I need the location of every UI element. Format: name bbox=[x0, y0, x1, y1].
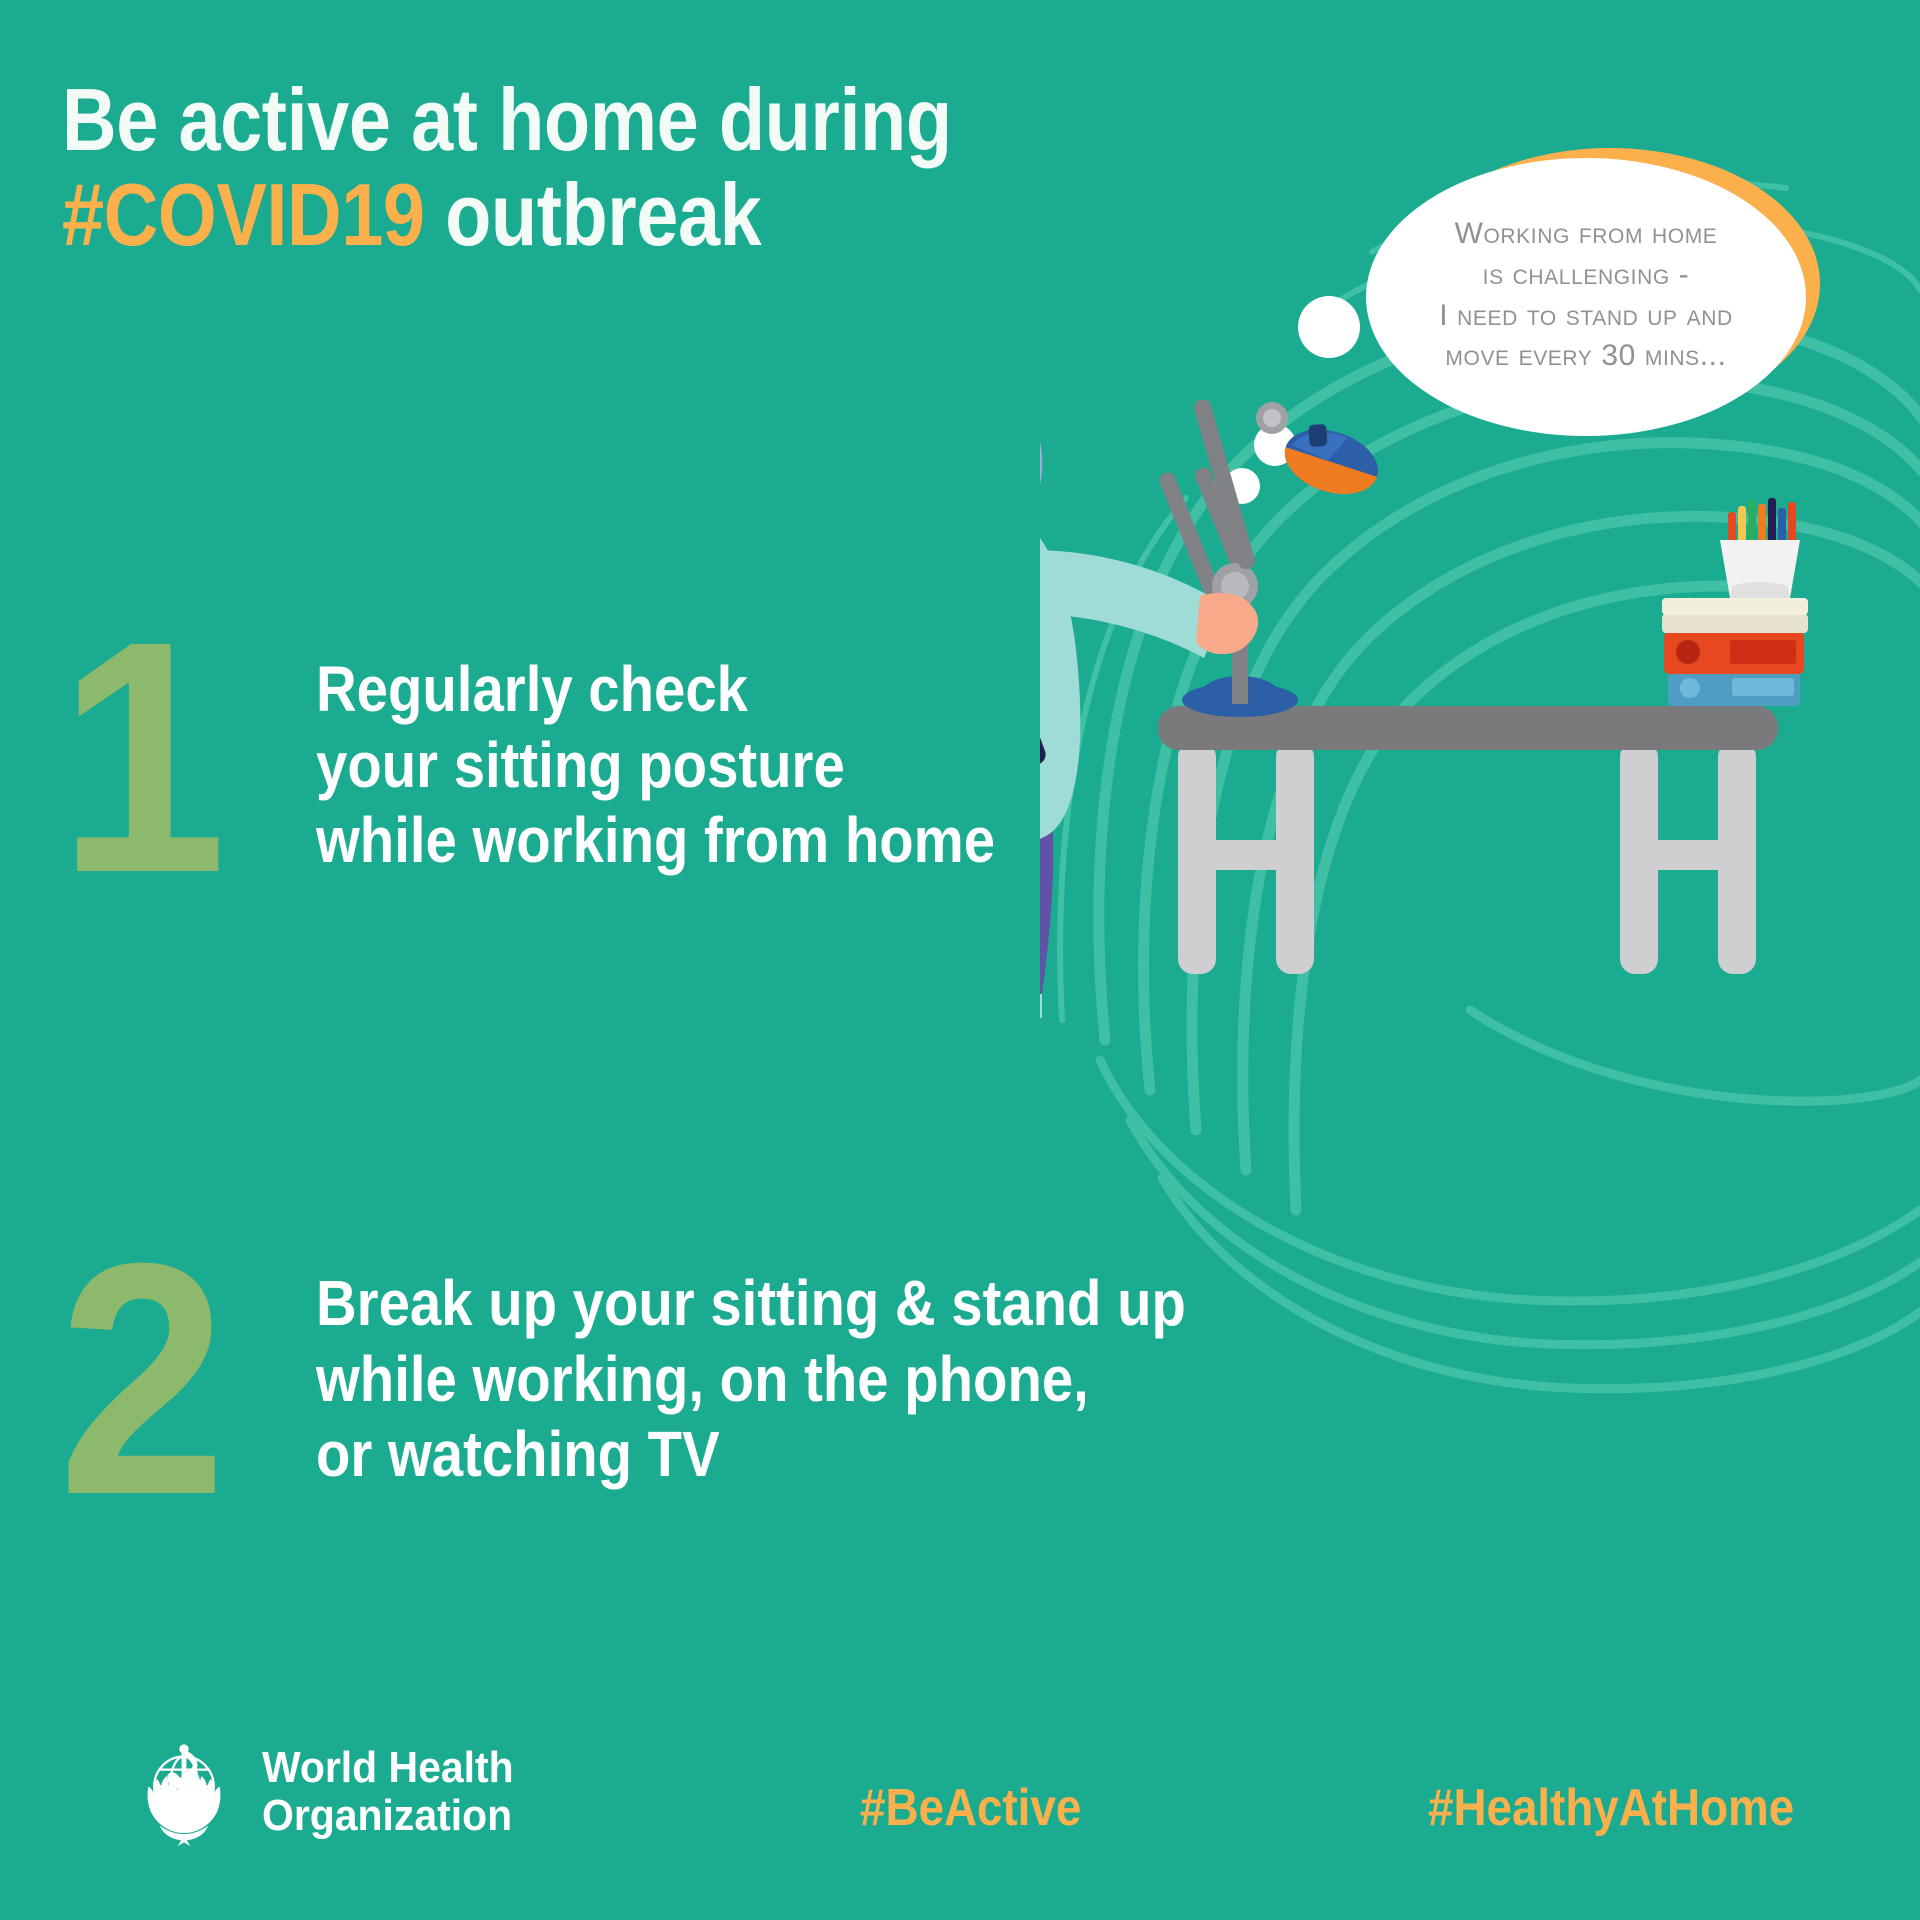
tip-1-line-3: while working from home bbox=[316, 803, 995, 879]
tip-1-line-1: Regularly check bbox=[316, 652, 995, 728]
bubble-line-3: I need to stand up and bbox=[1384, 296, 1788, 337]
who-wordmark: World Health Organization bbox=[262, 1744, 514, 1841]
thought-bubble-text: Working from home is challenging - I nee… bbox=[1384, 214, 1788, 377]
tip-2-line-3: or watching TV bbox=[316, 1417, 1186, 1493]
headline-covid-accent: #COVID19 bbox=[62, 165, 425, 264]
tip-2: 2 Break up your sitting & stand up while… bbox=[58, 1250, 1305, 1507]
pencil-cup bbox=[1720, 498, 1800, 598]
desk bbox=[1158, 706, 1778, 974]
bubble-line-1: Working from home bbox=[1384, 214, 1788, 255]
tip-1-line-2: your sitting posture bbox=[316, 728, 995, 804]
tip-2-line-2: while working, on the phone, bbox=[316, 1342, 1186, 1418]
bubble-line-2: is challenging - bbox=[1384, 255, 1788, 296]
tip-2-text: Break up your sitting & stand up while w… bbox=[316, 1250, 1305, 1493]
hashtag-beactive[interactable]: #BeActive bbox=[860, 1778, 1081, 1838]
hijab bbox=[1040, 400, 1042, 546]
tip-1-number: 1 bbox=[58, 628, 242, 885]
headline-line-2: #COVID19 outbreak bbox=[62, 167, 974, 262]
who-name-line-2: Organization bbox=[262, 1792, 514, 1840]
tip-2-number: 2 bbox=[58, 1250, 242, 1507]
sock-front bbox=[1040, 994, 1042, 1018]
headline-line-1: Be active at home during bbox=[62, 72, 974, 167]
illustration-work-from-home bbox=[1040, 400, 1920, 1020]
who-logo: World Health Organization bbox=[128, 1736, 533, 1848]
book-stack bbox=[1662, 598, 1808, 706]
tip-1: 1 Regularly check your sitting posture w… bbox=[58, 628, 1088, 885]
tip-2-line-1: Break up your sitting & stand up bbox=[316, 1266, 1186, 1342]
infographic-poster: Be active at home during #COVID19 outbre… bbox=[0, 0, 1920, 1920]
who-name-line-1: World Health bbox=[262, 1744, 514, 1792]
thought-dot-large bbox=[1298, 296, 1360, 358]
hashtag-healthyathome[interactable]: #HealthyAtHome bbox=[1428, 1778, 1794, 1838]
who-emblem-icon bbox=[128, 1736, 240, 1848]
desk-lamp bbox=[1157, 400, 1388, 717]
headline: Be active at home during #COVID19 outbre… bbox=[62, 72, 1122, 262]
bubble-line-4: move every 30 mins... bbox=[1384, 336, 1788, 377]
headline-outbreak-text: outbreak bbox=[425, 165, 762, 264]
tip-1-text: Regularly check your sitting posture whi… bbox=[316, 628, 1088, 879]
